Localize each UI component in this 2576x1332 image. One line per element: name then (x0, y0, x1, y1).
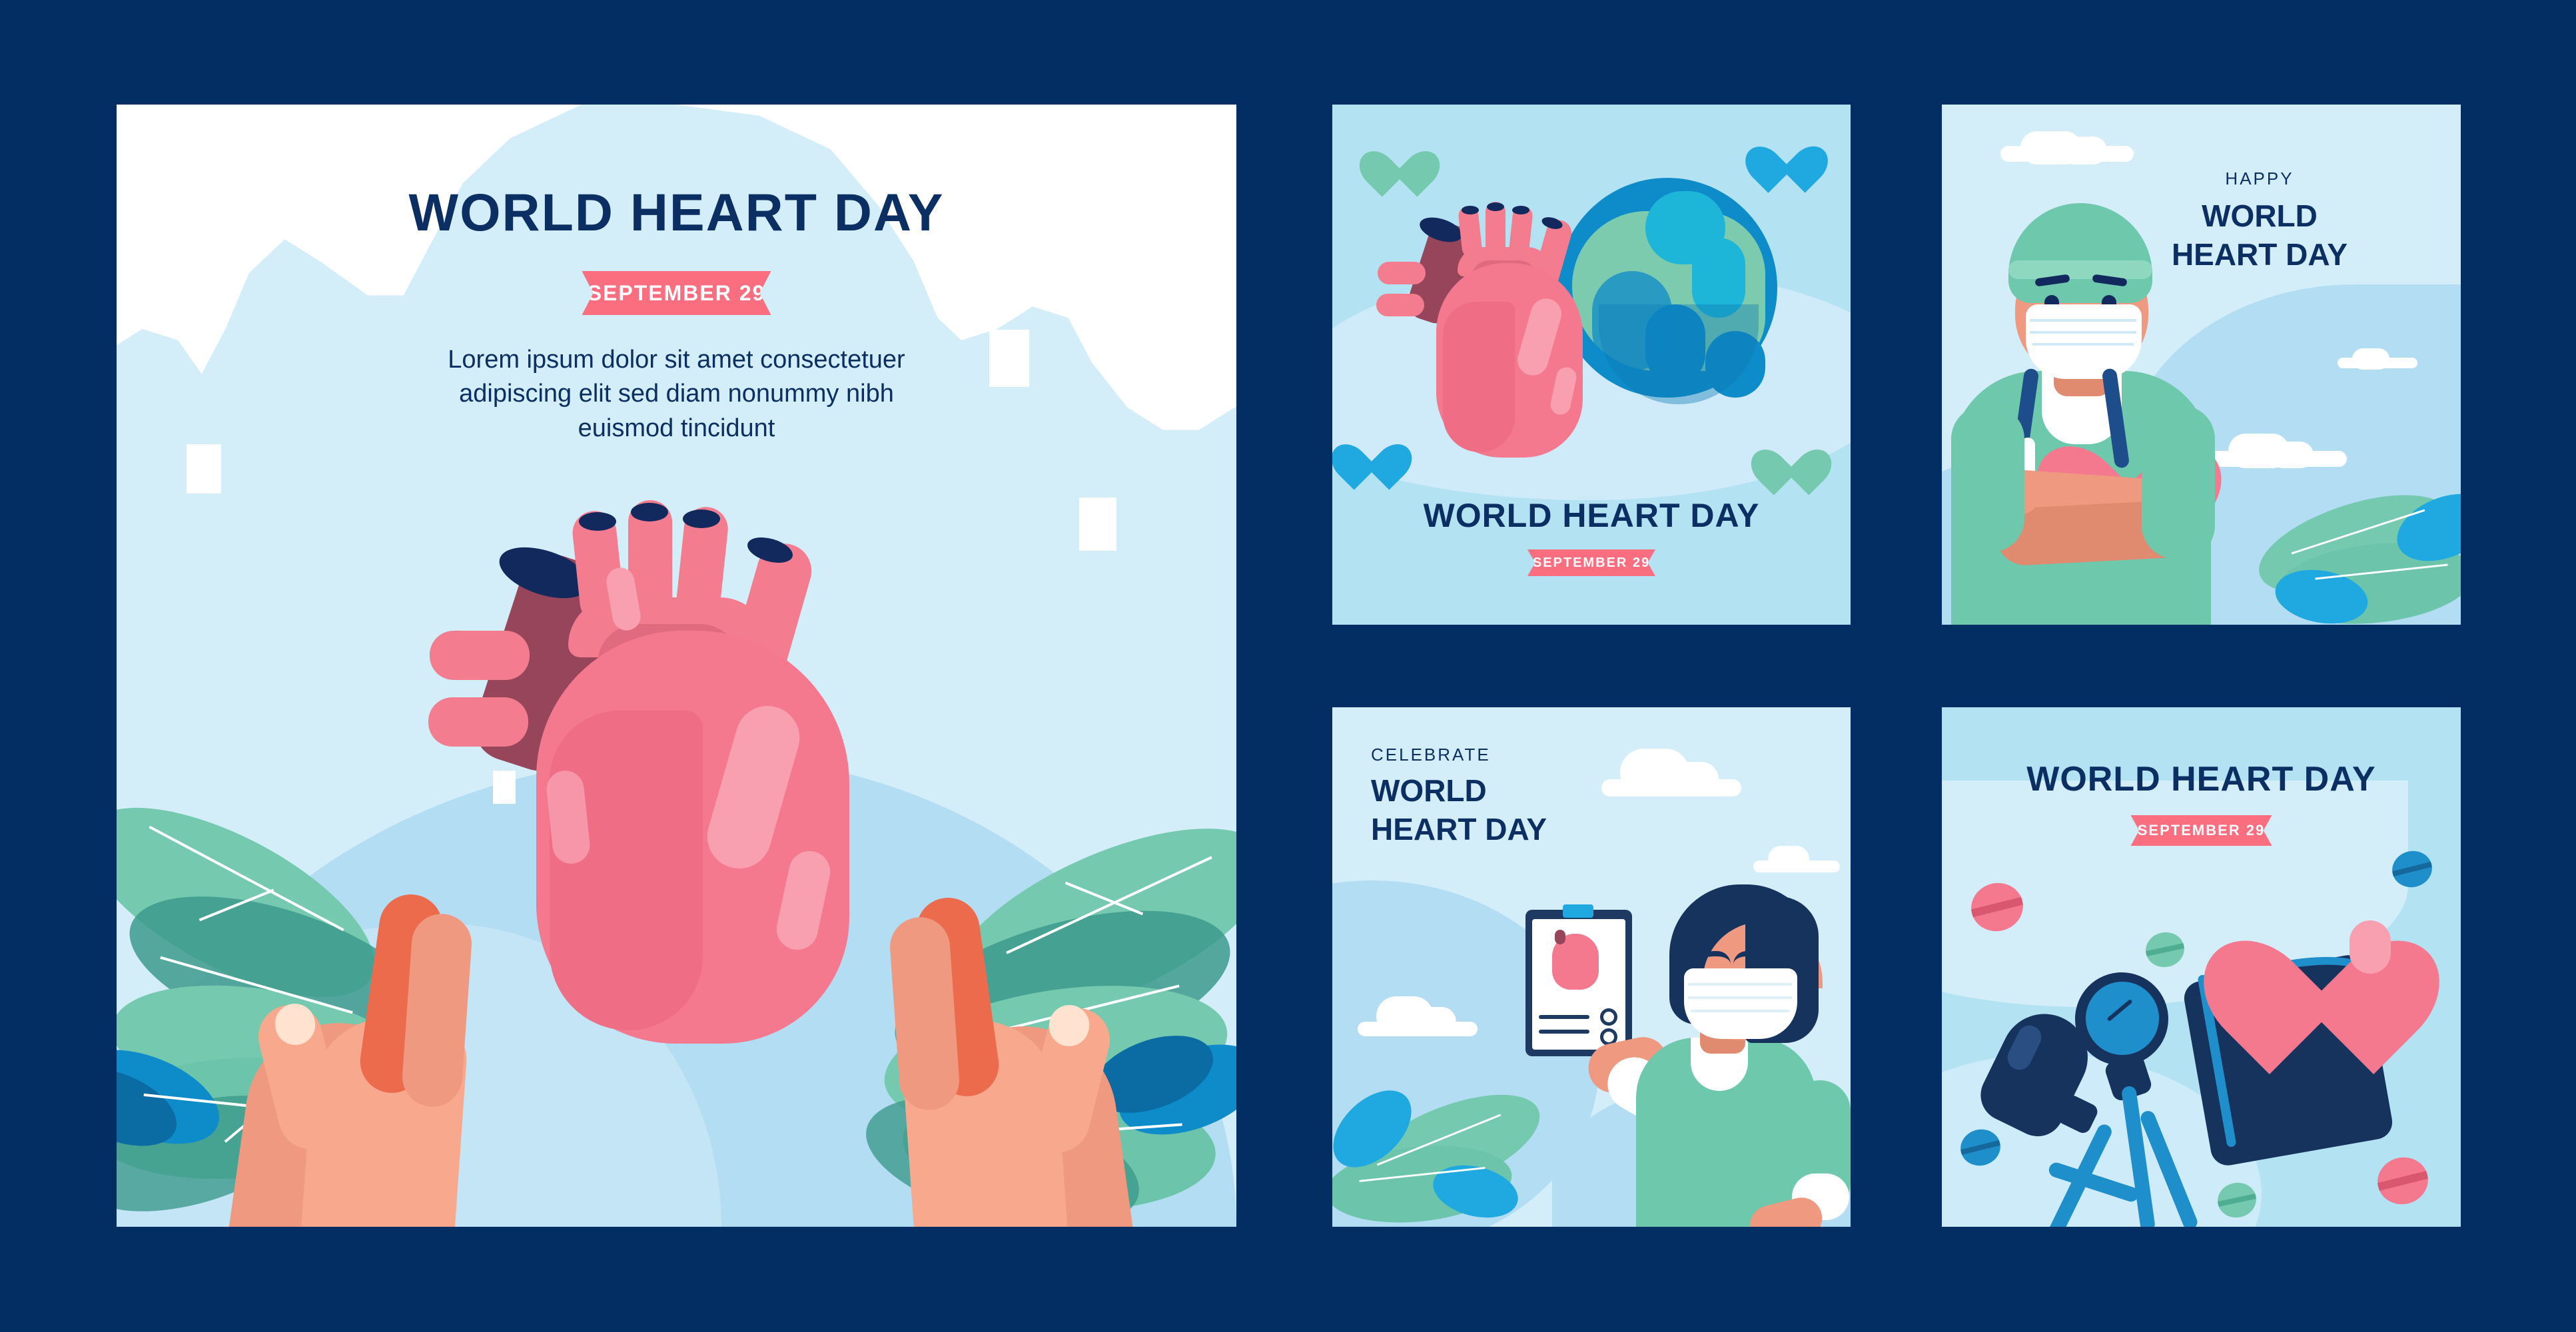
post-card-globe[interactable]: WORLD HEART DAY SEPTEMBER 29 (1332, 105, 1851, 625)
date-ribbon: SEPTEMBER 29 (2131, 815, 2272, 846)
body-line: euismod tincidunt (117, 412, 1236, 446)
card-title-line2: HEART DAY (1942, 236, 2461, 272)
card-kicker: HAPPY (1942, 168, 2461, 189)
post-card-doctor[interactable]: HAPPY WORLD HEART DAY (1942, 105, 2461, 625)
heart-icon-green (1764, 430, 1819, 479)
anatomical-heart-illustration (1386, 204, 1599, 471)
main-title: WORLD HEART DAY (117, 182, 1236, 243)
date-ribbon: SEPTEMBER 29 (1527, 549, 1655, 576)
main-body-text: Lorem ipsum dolor sit amet consectetuer … (117, 343, 1236, 446)
post-card-nurse[interactable]: CELEBRATE WORLD HEART DAY (1332, 707, 1851, 1227)
post-card-blood-pressure[interactable]: WORLD HEART DAY SEPTEMBER 29 (1942, 707, 2461, 1227)
sparkle-icon (185, 248, 225, 305)
card-title: WORLD HEART DAY (1942, 759, 2461, 799)
card-title-line1: WORLD (1371, 773, 1487, 809)
heart-icon-green (1372, 131, 1427, 180)
card-title-line2: HEART DAY (1371, 811, 1547, 847)
sparkle-icon (187, 444, 221, 494)
card-kicker: CELEBRATE (1371, 745, 1491, 765)
poster-set-canvas: WORLD HEART DAY SEPTEMBER 29 Lorem ipsum… (0, 0, 2576, 1332)
heart-icon-blue (1759, 126, 1815, 176)
body-line: Lorem ipsum dolor sit amet consectetuer (117, 343, 1236, 377)
anatomical-heart-illustration (410, 504, 943, 1104)
card-title: WORLD HEART DAY (1332, 496, 1851, 535)
date-ribbon-label: SEPTEMBER 29 (2138, 822, 2266, 839)
card-title-line1: WORLD (1942, 198, 2461, 234)
date-ribbon-label: SEPTEMBER 29 (588, 281, 766, 306)
date-ribbon: SEPTEMBER 29 (582, 271, 771, 315)
main-post-card[interactable]: WORLD HEART DAY SEPTEMBER 29 Lorem ipsum… (117, 105, 1236, 1227)
sparkle-icon (1079, 498, 1116, 551)
body-line: adipiscing elit sed diam nonummy nibh (117, 377, 1236, 411)
date-ribbon-label: SEPTEMBER 29 (1533, 555, 1650, 571)
